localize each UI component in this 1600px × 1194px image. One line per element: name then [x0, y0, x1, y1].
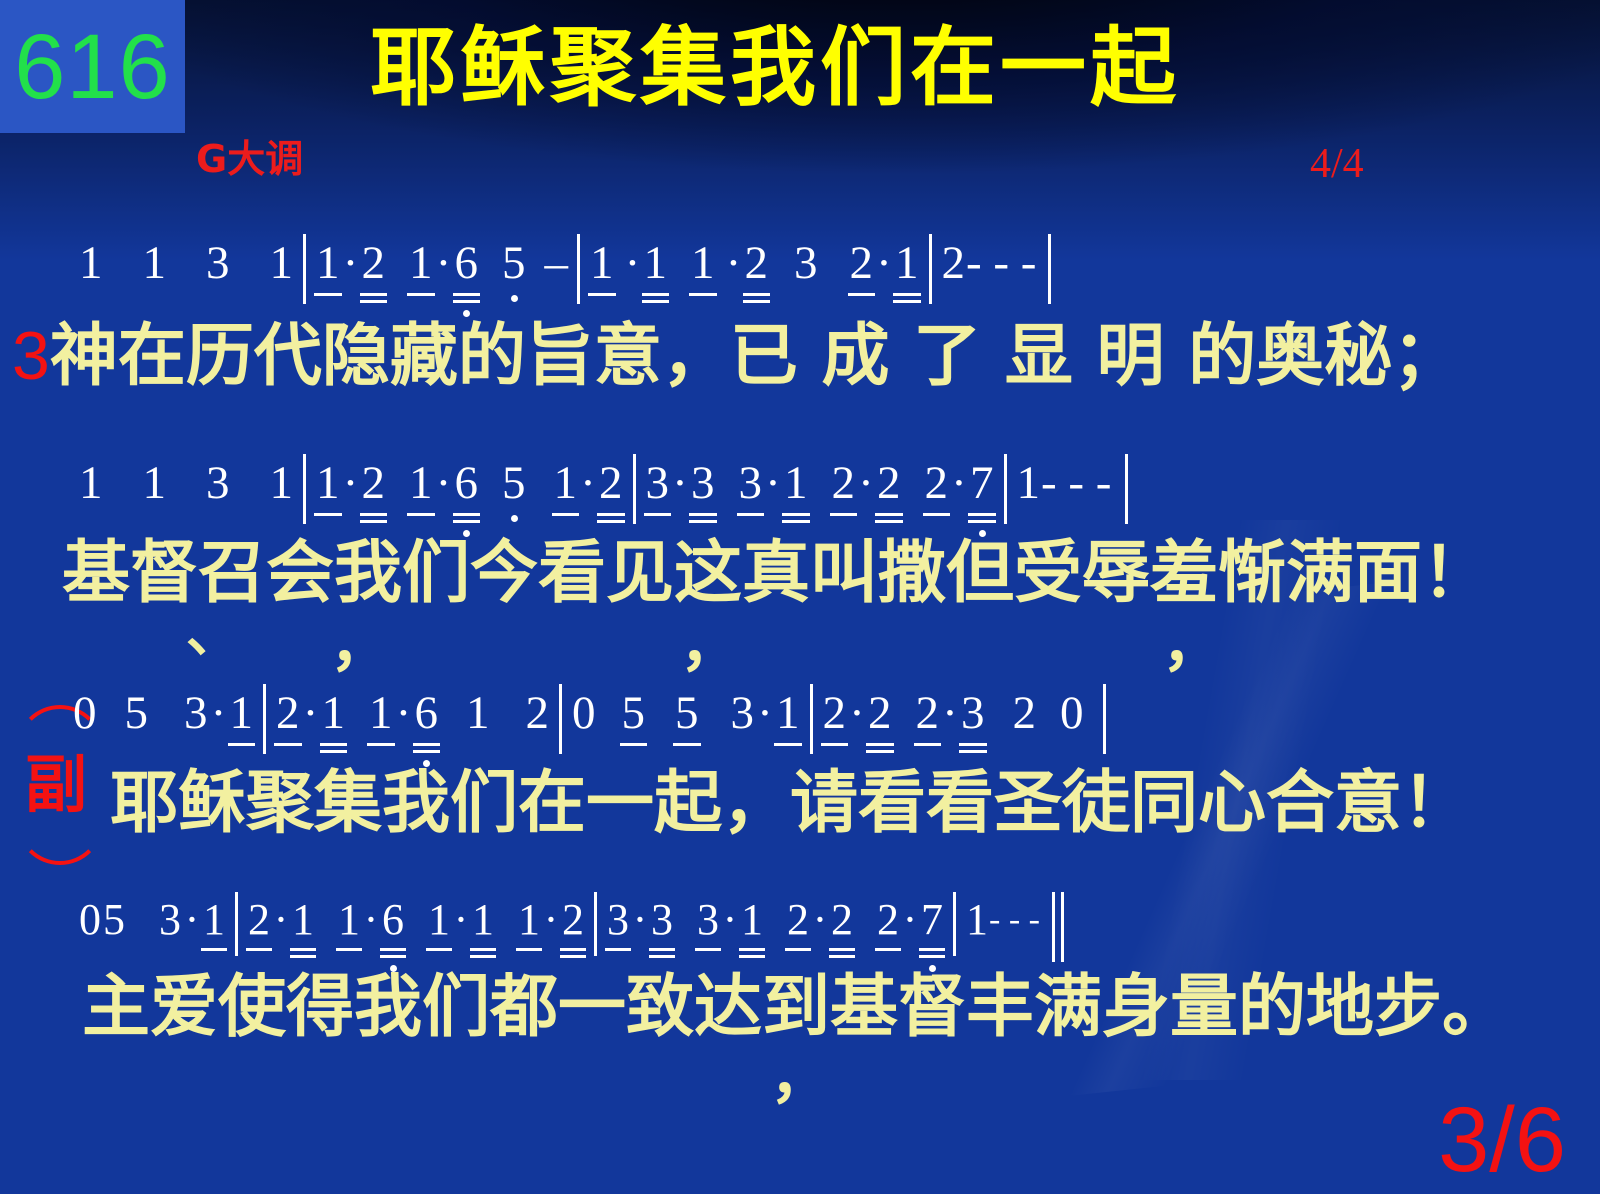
hymn-slide: 616 耶稣聚集我们在一起 G大调 4/4 1 1 3 1 1·2 1·6 5–… [0, 0, 1600, 1194]
lyric-punct-mark: 、 [186, 588, 240, 667]
hymn-number: 616 [14, 21, 171, 113]
page-title: 耶稣聚集我们在一起 [370, 22, 1270, 114]
lyric-punct-mark: ， [1162, 596, 1222, 683]
notation-line-2: 1 1 3 1 1·2 1·6 5 1·2 3·3 3·1 2·2 2·7 1-… [78, 460, 1137, 524]
key-signature: G大调 [196, 140, 303, 178]
hymn-number-box: 616 [0, 0, 185, 133]
lyric-text-3: 耶稣聚集我们在一起，请看看圣徒同心合意！ [110, 764, 1470, 843]
lyric-punct-mark: ， [330, 596, 390, 683]
time-signature: 4/4 [1310, 143, 1364, 185]
chorus-arc-bottom [16, 821, 104, 865]
lyric-text-1: 神在历代隐藏的旨意，已 成 了 显 明 的奥秘； [50, 317, 1460, 396]
lyric-punct-mark: ， [770, 1028, 830, 1115]
page-indicator: 3/6 [1438, 1092, 1566, 1188]
notation-line-3: 0 5 3·1 2·1 1·6 1 2 0 5 5 3·1 2·2 2·3 2 … [72, 690, 1115, 754]
lyric-line-2: 基督召会我们今看见这真叫撒但受辱羞惭满面！ [62, 538, 1490, 610]
lyric-text-2: 基督召会我们今看见这真叫撒但受辱羞惭满面！ [62, 534, 1490, 613]
lyric-punct-mark: ， [680, 596, 740, 683]
notation-line-4: 0 5 3·1 2·1 1·6 1·1 1·2 3·3 3·1 2·2 2·7 … [78, 898, 1074, 956]
verse-number-3: 3 [12, 318, 50, 394]
chorus-label: 副 [25, 754, 87, 816]
lyric-line-3: 耶稣聚集我们在一起，请看看圣徒同心合意！ [110, 768, 1470, 840]
lyric-line-1: 3神在历代隐藏的旨意，已 成 了 显 明 的奥秘； [12, 320, 1460, 393]
notation-line-1: 1 1 3 1 1·2 1·6 5– 1·1 1·2 3 2·1 2- - - [78, 240, 1060, 304]
